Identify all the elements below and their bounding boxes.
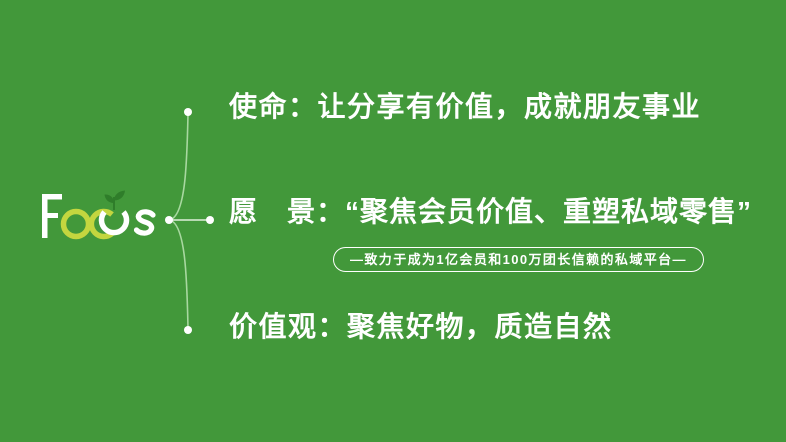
leaf-sprout-icon bbox=[105, 191, 126, 211]
brace-upper-curve bbox=[169, 114, 188, 220]
logo-letter-f bbox=[42, 194, 62, 238]
mission-row: 使命：让分享有价值，成就朋友事业 bbox=[229, 93, 701, 121]
focus-logo bbox=[38, 186, 168, 244]
vision-subtitle-text: —致力于成为1亿会员和100万团长信赖的私域平台— bbox=[350, 253, 687, 266]
bullet-dot bbox=[206, 216, 214, 224]
vision-text: 愿 景：“聚焦会员价值、重塑私域零售” bbox=[229, 198, 752, 226]
values-text: 价值观：聚焦好物，质造自然 bbox=[229, 313, 613, 341]
curly-brace-svg bbox=[160, 100, 230, 340]
slide-canvas: 使命：让分享有价值，成就朋友事业 愿 景：“聚焦会员价值、重塑私域零售” —致力… bbox=[0, 0, 786, 442]
logo-letter-o bbox=[64, 212, 89, 237]
logo-letter-u bbox=[102, 212, 127, 233]
brace-lower-curve bbox=[169, 220, 188, 328]
bullet-dot bbox=[165, 216, 173, 224]
vision-row: 愿 景：“聚焦会员价值、重塑私域零售” bbox=[229, 198, 752, 226]
bullet-dot bbox=[184, 108, 192, 116]
bullet-dot bbox=[184, 326, 192, 334]
values-row: 价值观：聚焦好物，质造自然 bbox=[229, 313, 613, 341]
focus-logo-svg bbox=[38, 186, 168, 244]
curly-brace-connector bbox=[160, 100, 230, 340]
logo-letter-s bbox=[137, 212, 154, 233]
vision-subtitle-pill: —致力于成为1亿会员和100万团长信赖的私域平台— bbox=[333, 247, 704, 272]
mission-text: 使命：让分享有价值，成就朋友事业 bbox=[229, 93, 701, 121]
